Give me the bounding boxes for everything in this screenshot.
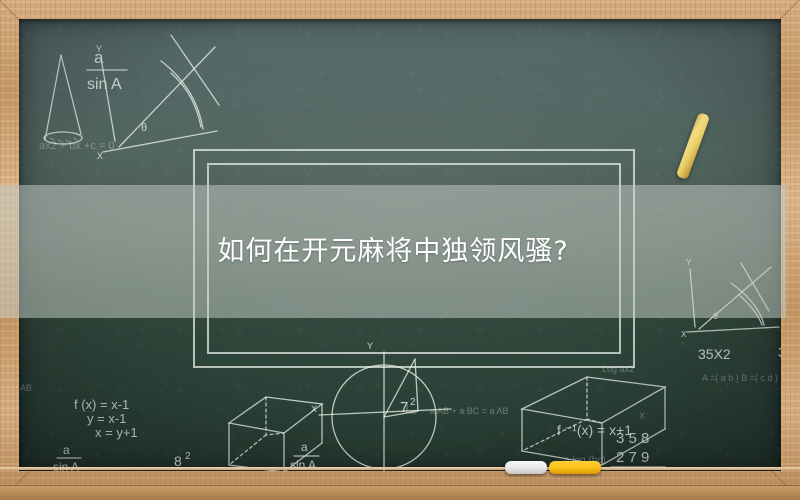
cone-label-sin-a: sin A [87,76,122,93]
chalk-stick-white [505,461,547,474]
ledge-top-edge [0,467,800,470]
sphere-axis-x: X [311,404,317,414]
page-title: 如何在开元麻将中独领风骚? [217,238,568,265]
chalk-stick-yellow [549,461,601,474]
sum-axis-x: X [639,411,645,421]
function-x: x = y+1 [95,425,138,440]
quadratic-equation: ax2 + bx +c = 0 [39,140,115,152]
label-3x2: 3X2 [778,344,781,360]
title-overlay-band: 如何在开元麻将中独领风骚? [0,185,786,318]
cone-drawing [44,55,82,144]
cone-label-a: a [94,48,104,67]
chalk-stick-yellow-top [676,112,711,180]
cube-drawing-center [229,397,322,471]
matrix-notation: A =( a b ) B =( c d ) I =( 1 0 ) [702,373,781,383]
axis-label-y: Y [96,44,102,54]
function-y: y = x-1 [87,411,126,426]
faint-mark-left: a AB [19,383,32,393]
seven-base: 7 [400,399,408,416]
sum-row-1: 3 5 8 [616,430,649,447]
sine-rule-a: a [63,443,70,457]
right-axis-x: X [681,330,687,339]
eight-exponent: 2 [185,451,191,462]
vector-expression: a AB + a BC = a AB [430,406,509,416]
theta-label: θ [141,122,147,134]
seven-exponent: 2 [410,397,416,408]
sum-row-2: 2 7 9 [616,449,649,466]
axis-label-x: X [97,151,103,161]
chalkboard-banner: a sin A Y X θ ax2 + bx +c = 0 Log ax2 [0,0,800,500]
function-fx: f (x) = x-1 [74,397,129,412]
sine-rule2-a: a [301,440,308,454]
angle-diagram-left: Y X θ [96,35,219,161]
inverse-function: f ⁻¹(x) = x+1 [557,422,632,438]
cube-drawing-right [522,377,665,465]
label-35x2: 35X2 [698,346,731,362]
chalk-ledge [0,485,800,500]
